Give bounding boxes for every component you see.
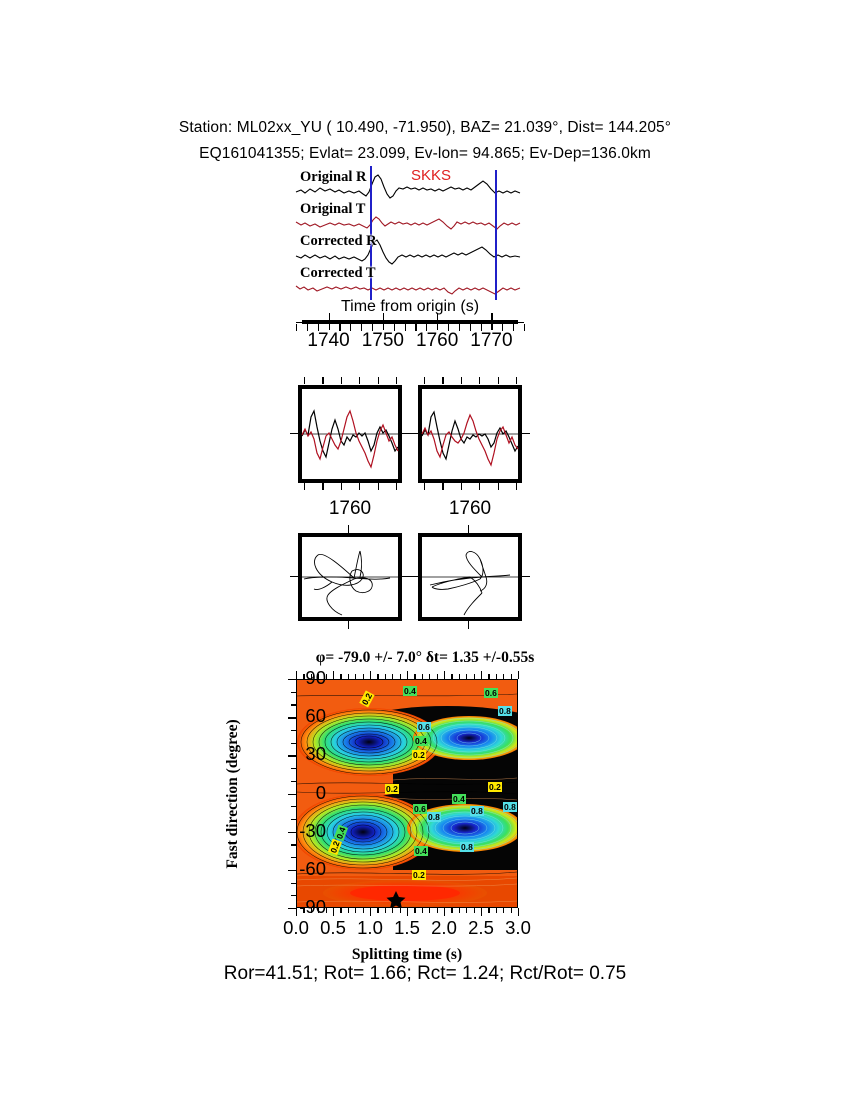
contour-x-minor-tick (414, 908, 415, 913)
contour-x-minor-tick-top (377, 674, 378, 679)
mid-panel-right-xlabel: 1760 (418, 498, 522, 520)
contour-y-minor-tick (291, 857, 296, 858)
contour-x-major-tick (370, 908, 371, 916)
contour-x-major-tick (444, 908, 445, 916)
contour-y-major-tick (288, 908, 296, 909)
contour-y-minor-tick (291, 819, 296, 820)
mid-panel-bottom-tick (359, 483, 360, 490)
mid-panel-bottom-tick (304, 483, 305, 490)
contour-x-major-tick-top (481, 671, 482, 679)
contour-x-minor-tick-top (392, 674, 393, 679)
contour-y-tick-label: 90 (305, 667, 326, 689)
contour-x-minor-tick-top (496, 674, 497, 679)
contour-x-minor-tick (511, 908, 512, 913)
time-axis-major-tick (383, 313, 384, 330)
contour-value-label: 0.4 (414, 846, 428, 856)
particle-motion-box-right (418, 533, 522, 621)
contour-x-major-tick-top (444, 671, 445, 679)
contour-x-minor-tick-top (429, 674, 430, 679)
time-axis-major-tick (491, 313, 492, 330)
waveform-stack: Original R SKKS Original T Corrected R C… (296, 168, 520, 298)
contour-value-label: 0.2 (412, 870, 426, 880)
pm-bottom-crosshair (468, 621, 469, 629)
trace-label-original-t: Original T (300, 201, 365, 218)
contour-x-major-tick (518, 908, 519, 916)
contour-x-minor-tick-top (488, 674, 489, 679)
pm-bottom-crosshair (348, 621, 349, 629)
contour-x-minor-tick-top (355, 674, 356, 679)
time-axis-title: Time from origin (s) (296, 298, 524, 316)
contour-x-minor-tick-top (451, 674, 452, 679)
contour-y-tick-label: -30 (299, 820, 326, 842)
contour-x-tick-label: 2.5 (468, 917, 494, 939)
contour-value-label: 0.4 (452, 794, 466, 804)
mid-panel-bottom-tick (322, 483, 323, 490)
contour-y-minor-tick (291, 895, 296, 896)
mid-panel-top-tick (498, 377, 499, 384)
mid-panel-bottom-tick (498, 483, 499, 490)
contour-x-minor-tick (392, 908, 393, 913)
contour-x-tick-label: 0.0 (283, 917, 309, 939)
contour-value-label: 0.8 (498, 706, 512, 716)
contour-x-major-tick-top (518, 671, 519, 679)
contour-x-tick-label: 1.0 (357, 917, 383, 939)
contour-y-minor-tick (291, 692, 296, 693)
contour-x-axis-label: Splitting time (s) (296, 946, 518, 964)
contour-x-minor-tick (355, 908, 356, 913)
mid-panel-bottom-tick (516, 483, 517, 490)
mid-panel-bottom-tick (378, 483, 379, 490)
phase-marker-line-2 (495, 170, 497, 300)
contour-y-minor-tick (291, 704, 296, 705)
figure-page: Station: ML02xx_YU ( 10.490, -71.950), B… (0, 0, 850, 1100)
contour-value-label: 0.4 (403, 686, 417, 696)
contour-y-tick-label: 30 (305, 743, 326, 765)
contour-x-minor-tick (451, 908, 452, 913)
contour-y-major-tick (288, 832, 296, 833)
pm-left-crosshair (290, 576, 298, 577)
pm-right-crosshair (402, 576, 410, 577)
contour-y-major-tick (288, 717, 296, 718)
mid-panel-bottom-tick (461, 483, 462, 490)
contour-y-minor-tick (291, 730, 296, 731)
trace-label-corrected-r: Corrected R (300, 233, 377, 250)
contour-x-minor-tick (363, 908, 364, 913)
pm-top-crosshair (468, 525, 469, 533)
contour-x-minor-tick-top (466, 674, 467, 679)
contour-value-label: 0.6 (484, 688, 498, 698)
contour-x-minor-tick (459, 908, 460, 913)
contour-x-minor-tick-top (503, 674, 504, 679)
time-axis-tick-label: 1760 (416, 330, 458, 352)
mid-panel-top-tick (516, 377, 517, 384)
trace-corrected-t: Corrected T (296, 268, 520, 300)
mid-panel-top-tick (304, 377, 305, 384)
mid-panel-left-xlabel: 1760 (298, 498, 402, 520)
mid-panel-left-crosshair (410, 433, 418, 434)
time-axis-minor-tick (524, 324, 525, 331)
contour-value-label: 0.8 (427, 812, 441, 822)
contour-y-major-tick (288, 755, 296, 756)
mid-panel-right-crosshair (522, 433, 530, 434)
contour-y-major-tick (288, 679, 296, 680)
time-axis-minor-tick (296, 324, 297, 331)
contour-x-major-tick-top (370, 671, 371, 679)
time-axis-minor-tick (459, 324, 460, 331)
contour-x-minor-tick (385, 908, 386, 913)
contour-x-minor-tick (429, 908, 430, 913)
mid-panel-top-tick (461, 377, 462, 384)
contour-x-major-tick (333, 908, 334, 916)
contour-x-tick-label: 1.5 (394, 917, 420, 939)
contour-value-label: 0.6 (413, 804, 427, 814)
contour-x-minor-tick-top (459, 674, 460, 679)
contour-x-minor-tick (496, 908, 497, 913)
mid-panel-bottom-tick (396, 483, 397, 490)
mid-panel-top-tick (322, 377, 323, 384)
contour-y-minor-tick (291, 883, 296, 884)
fast-slow-waveform-box-left (298, 385, 402, 483)
contour-x-minor-tick-top (340, 674, 341, 679)
contour-value-label: 0.4 (414, 736, 428, 746)
contour-x-minor-tick (474, 908, 475, 913)
contour-x-minor-tick (340, 908, 341, 913)
contour-y-axis-label: Fast direction (degree) (222, 678, 244, 910)
energy-contour-plot (296, 679, 518, 908)
contour-y-tick-label: 60 (305, 705, 326, 727)
contour-y-minor-tick (291, 806, 296, 807)
mid-panel-top-tick (359, 377, 360, 384)
contour-value-label: 0.2 (412, 750, 426, 760)
contour-y-tick-label: -90 (299, 896, 326, 918)
contour-x-minor-tick-top (474, 674, 475, 679)
pm-right-crosshair (522, 576, 530, 577)
contour-y-minor-tick (291, 844, 296, 845)
contour-x-major-tick-top (333, 671, 334, 679)
contour-x-major-tick (296, 908, 297, 916)
mid-panel-bottom-tick (424, 483, 425, 490)
contour-x-minor-tick (503, 908, 504, 913)
mid-panel-bottom-tick (479, 483, 480, 490)
contour-x-minor-tick (377, 908, 378, 913)
contour-y-major-tick (288, 870, 296, 871)
mid-panel-top-tick (442, 377, 443, 384)
mid-panel-bottom-tick (341, 483, 342, 490)
time-axis-major-tick (437, 313, 438, 330)
time-axis-major-tick (329, 313, 330, 330)
time-axis-minor-tick (405, 324, 406, 331)
mid-panel-top-tick (341, 377, 342, 384)
contour-x-minor-tick-top (385, 674, 386, 679)
contour-value-label: 0.8 (470, 806, 484, 816)
contour-x-major-tick-top (407, 671, 408, 679)
mid-panel-top-tick (424, 377, 425, 384)
contour-y-tick-label: -60 (299, 858, 326, 880)
time-axis-minor-tick (513, 324, 514, 331)
contour-x-minor-tick-top (422, 674, 423, 679)
trace-original-r: Original R SKKS (296, 172, 520, 204)
contour-y-minor-tick (291, 781, 296, 782)
time-axis-tick-label: 1770 (470, 330, 512, 352)
mid-panel-left-crosshair (290, 433, 298, 434)
phase-label-skks: SKKS (411, 167, 451, 184)
contour-x-minor-tick-top (437, 674, 438, 679)
contour-x-tick-label: 3.0 (505, 917, 531, 939)
contour-x-major-tick-top (296, 671, 297, 679)
contour-x-minor-tick (348, 908, 349, 913)
trace-original-t: Original T (296, 204, 520, 236)
pm-left-crosshair (410, 576, 418, 577)
contour-y-major-tick (288, 794, 296, 795)
mid-panel-top-tick (378, 377, 379, 384)
time-axis: Time from origin (s) 1740175017601770 (296, 300, 524, 358)
contour-x-minor-tick-top (511, 674, 512, 679)
header-line-station: Station: ML02xx_YU ( 10.490, -71.950), B… (0, 119, 850, 137)
header-line-event: EQ161041355; Evlat= 23.099, Ev-lon= 94.8… (0, 145, 850, 163)
contour-value-label: 0.2 (488, 782, 502, 792)
mid-panel-top-tick (396, 377, 397, 384)
mid-panel-bottom-tick (442, 483, 443, 490)
contour-x-minor-tick-top (303, 674, 304, 679)
contour-x-minor-tick-top (400, 674, 401, 679)
contour-x-minor-tick (466, 908, 467, 913)
time-axis-minor-tick (350, 324, 351, 331)
contour-x-major-tick (407, 908, 408, 916)
contour-x-tick-label: 2.0 (431, 917, 457, 939)
contour-x-minor-tick (437, 908, 438, 913)
contour-x-minor-tick (488, 908, 489, 913)
contour-value-label: 0.8 (503, 802, 517, 812)
contour-value-label: 0.6 (417, 722, 431, 732)
contour-title: φ= -79.0 +/- 7.0° δt= 1.35 +/-0.55s (0, 649, 850, 667)
contour-value-label: 0.2 (385, 784, 399, 794)
time-axis-bar (302, 320, 518, 324)
trace-label-corrected-t: Corrected T (300, 265, 376, 282)
mid-panel-top-tick (479, 377, 480, 384)
contour-y-minor-tick (291, 743, 296, 744)
particle-motion-box-left (298, 533, 402, 621)
contour-x-minor-tick (400, 908, 401, 913)
contour-value-label: 0.8 (460, 842, 474, 852)
fast-slow-waveform-box-right (418, 385, 522, 483)
contour-y-minor-tick (291, 768, 296, 769)
contour-x-minor-tick-top (348, 674, 349, 679)
contour-x-minor-tick-top (414, 674, 415, 679)
statistics-line: Ror=41.51; Rot= 1.66; Rct= 1.24; Rct/Rot… (0, 963, 850, 985)
contour-x-minor-tick-top (363, 674, 364, 679)
pm-top-crosshair (348, 525, 349, 533)
contour-x-major-tick (481, 908, 482, 916)
contour-y-tick-label: 0 (316, 782, 326, 804)
mid-panel-right-crosshair (402, 433, 410, 434)
time-axis-tick-label: 1740 (307, 330, 349, 352)
contour-x-tick-label: 0.5 (320, 917, 346, 939)
trace-corrected-r: Corrected R (296, 236, 520, 268)
time-axis-tick-label: 1750 (362, 330, 404, 352)
trace-label-original-r: Original R (300, 169, 366, 186)
contour-x-minor-tick (422, 908, 423, 913)
